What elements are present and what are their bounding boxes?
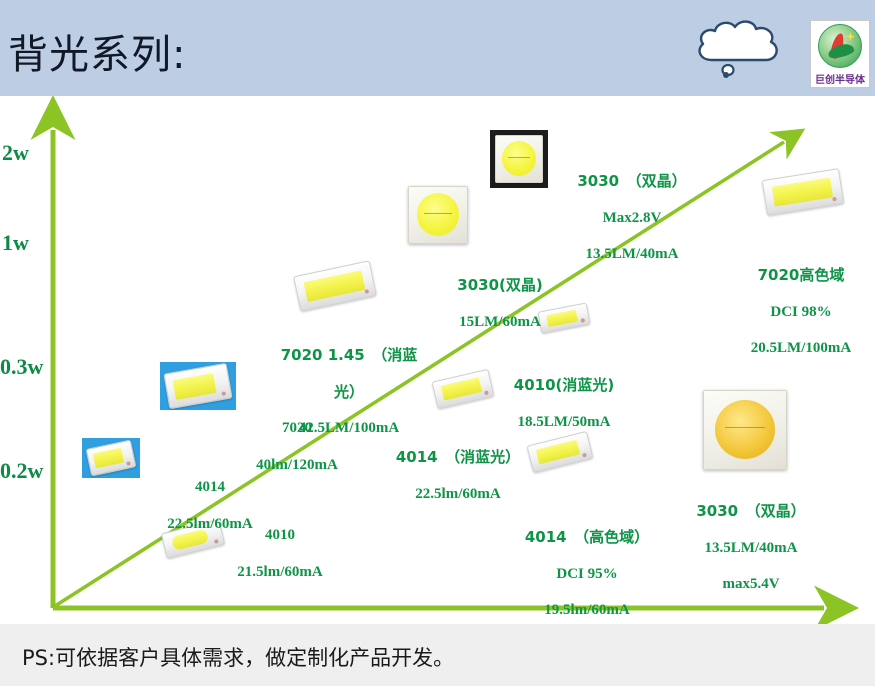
label-4014-bluecut-line1: 4014 （消蓝光） xyxy=(366,448,550,466)
label-7020-gamut-line2: DCI 98% xyxy=(716,303,875,321)
label-7020-bluecut-line1: 7020 1.45 （消蓝 xyxy=(274,346,424,364)
company-logo: 巨创半导体 xyxy=(810,20,870,88)
label-4010-bluecut-line1: 4010(消蓝光) xyxy=(488,376,640,394)
page-title: 背光系列: xyxy=(8,22,186,80)
y-tick-2w: 2w xyxy=(2,140,29,166)
label-3030-b-line3: 13.5LM/40mA xyxy=(552,245,712,263)
label-3030-b-line2: Max2.8V xyxy=(552,209,712,227)
led-photo-4014 xyxy=(82,438,140,478)
led-photo-7020-bluecut xyxy=(296,268,374,304)
led-photo-3030-b xyxy=(490,130,548,188)
label-3030-warm: 3030 （双晶） 13.5LM/40mA max5.4V xyxy=(665,484,837,612)
label-3030-b: 3030 （双晶） Max2.8V 13.5LM/40mA xyxy=(552,154,712,282)
slide-footer: PS:可依据客户具体需求，做定制化产品开发。 xyxy=(0,624,875,686)
led-photo-4014-bluecut xyxy=(434,375,492,403)
label-4014-gamut-line3: 19.5lm/60mA xyxy=(503,601,671,619)
label-3030-warm-line2: 13.5LM/40mA xyxy=(665,539,837,557)
label-7020-bluecut-line2: 光） xyxy=(274,383,424,401)
footer-note: PS:可依据客户具体需求，做定制化产品开发。 xyxy=(22,642,454,672)
label-3030-warm-line1: 3030 （双晶） xyxy=(665,502,837,520)
y-tick-0.2w: 0.2w xyxy=(0,458,43,484)
chart-plot-area: 2w 1w 0.3w 0.2w xyxy=(0,96,875,624)
slide-header: 背光系列: 巨创半导体 xyxy=(0,0,875,96)
label-7020-line2: 40lm/120mA xyxy=(222,456,372,474)
logo-company-name: 巨创半导体 xyxy=(815,71,865,86)
slide-canvas: 背光系列: 巨创半导体 xyxy=(0,0,875,686)
label-3030-b-line1: 3030 （双晶） xyxy=(552,172,712,190)
label-7020-gamut-line1: 7020高色域 xyxy=(716,266,875,284)
label-3030-a-line2: 15LM/60mA xyxy=(420,313,580,331)
label-4014-gamut: 4014 （高色域） DCI 95% 19.5lm/60mA xyxy=(503,510,671,638)
label-4010-bluecut-line2: 18.5LM/50mA xyxy=(488,413,640,431)
label-4014-gamut-line2: DCI 95% xyxy=(503,565,671,583)
led-photo-3030-a xyxy=(408,186,468,244)
label-4014-bluecut-line2: 22.5lm/60mA xyxy=(366,485,550,503)
label-4010-bluecut: 4010(消蓝光) 18.5LM/50mA xyxy=(488,358,640,449)
cloud-icon xyxy=(692,18,786,80)
led-photo-3030-warm xyxy=(703,390,787,470)
led-photo-7020-gamut xyxy=(764,174,842,210)
label-4010-line2: 21.5lm/60mA xyxy=(200,563,360,581)
label-7020-gamut: 7020高色域 DCI 98% 20.5LM/100mA xyxy=(716,248,875,376)
label-4010-line1: 4010 xyxy=(200,526,360,544)
y-tick-0.3w: 0.3w xyxy=(0,354,43,380)
label-4014-gamut-line1: 4014 （高色域） xyxy=(503,528,671,546)
label-3030-warm-line3: max5.4V xyxy=(665,575,837,593)
label-7020-gamut-line3: 20.5LM/100mA xyxy=(716,339,875,357)
label-4010: 4010 21.5lm/60mA xyxy=(200,508,360,599)
y-tick-1w: 1w xyxy=(2,230,29,256)
leaf-circle-logo-icon xyxy=(818,24,862,68)
